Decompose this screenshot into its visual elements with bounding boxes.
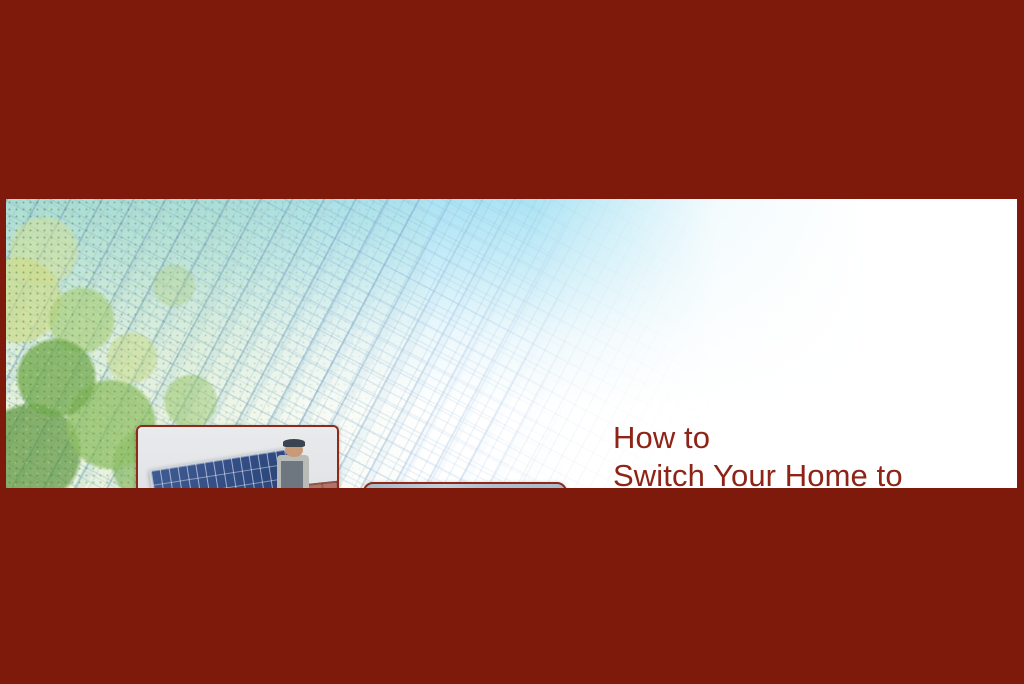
photo-solar-panel-installers: [136, 425, 339, 488]
standing-worker-overalls: [281, 461, 303, 488]
standing-worker-cap: [283, 439, 305, 446]
photo-hand-holding-green-energy-icon: [363, 482, 567, 488]
headline-block: How to Switch Your Home to: [613, 419, 903, 488]
headline-kicker: How to: [613, 419, 903, 456]
page-root: How to Switch Your Home to Green Energy: [0, 0, 1024, 684]
headline-subline: Switch Your Home to: [613, 457, 903, 488]
green-energy-banner: How to Switch Your Home to Green Energy: [6, 199, 1017, 488]
